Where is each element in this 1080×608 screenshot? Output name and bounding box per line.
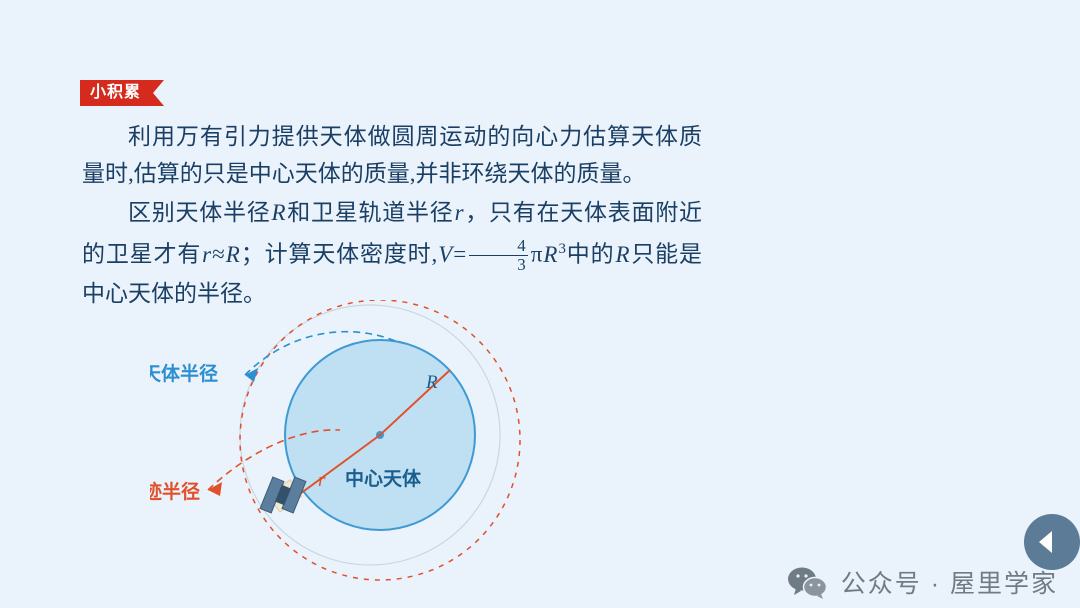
nav-previous-button[interactable] — [1024, 514, 1080, 570]
p2-text-4: ；计算天体密度时, — [241, 242, 437, 267]
paragraph-1: 利用万有引力提供天体做圆周运动的向心力估算天体质量时,估算的只是中心天体的质量,… — [82, 118, 702, 192]
p2-text-1: 区别天体半径 — [128, 200, 271, 225]
section-badge: 小积累 — [80, 80, 164, 106]
paragraph-2: 区别天体半径R和卫星轨道半径r，只有在天体表面附近的卫星才有r≈R；计算天体密度… — [82, 194, 702, 312]
symbol-R-2: R — [225, 242, 241, 267]
symbol-R-1: R — [271, 200, 287, 225]
label-R: R — [425, 372, 438, 393]
satellite-icon — [260, 477, 306, 513]
formula-fraction: 43 — [466, 237, 531, 275]
formula-equals: = — [453, 242, 466, 267]
p2-text-2: 和卫星轨道半径 — [287, 200, 454, 225]
label-center-radius: 中心天体半径 — [150, 362, 218, 385]
section-badge-label: 小积累 — [80, 80, 153, 106]
formula-R: R — [542, 242, 558, 267]
label-r: r — [318, 470, 326, 491]
footer-text: 公众号 · 屋里学家 — [841, 564, 1058, 600]
body-text: 利用万有引力提供天体做圆周运动的向心力估算天体质量时,估算的只是中心天体的质量,… — [82, 118, 702, 312]
formula-denominator: 3 — [469, 256, 528, 274]
chevron-left-icon — [1039, 531, 1052, 553]
wechat-icon — [787, 566, 827, 599]
formula-pi: π — [531, 242, 543, 267]
p2-text-5: 中的 — [566, 242, 615, 267]
symbol-approx: ≈ — [212, 242, 225, 267]
label-central-body: 中心天体 — [345, 467, 422, 490]
symbol-R-3: R — [614, 242, 630, 267]
formula-V: V — [437, 242, 453, 267]
label-orbit-radius: 卫星运动轨迹半径 — [150, 480, 200, 503]
formula-numerator: 4 — [469, 237, 528, 256]
leader-arrow-orbit-radius — [208, 482, 222, 496]
symbol-r-2: r — [201, 242, 212, 267]
badge-arrow-shape — [153, 80, 164, 106]
diagram-satellite-orbit: R r 中心天体 中心天体半径 卫星运动轨迹半径 — [150, 300, 730, 600]
formula-exponent: 3 — [558, 241, 565, 257]
footer-watermark: 公众号 · 屋里学家 — [787, 564, 1058, 600]
symbol-r-1: r — [454, 200, 465, 225]
